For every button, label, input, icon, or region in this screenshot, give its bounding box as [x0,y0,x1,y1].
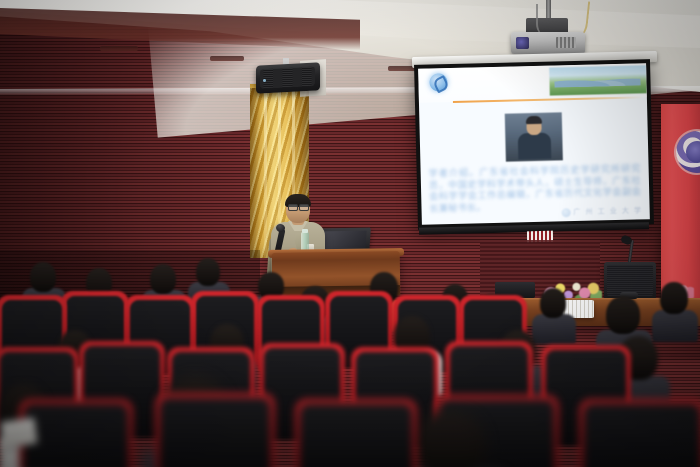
auditorium-seat[interactable] [584,404,700,467]
auditorium-seat[interactable] [24,404,128,467]
seat-backrest [584,404,700,467]
audience-head [414,410,486,467]
seat-backrest [24,404,128,467]
auditorium-seat[interactable] [300,404,412,467]
audience-member [0,0,700,467]
auditorium-photo: 学者介绍。广东省社会科学院历史学研究所研究员，中国史学科学术带头人，硕士生导师，… [0,0,700,467]
open-notebook [0,418,37,448]
seat-backrest [300,404,412,467]
